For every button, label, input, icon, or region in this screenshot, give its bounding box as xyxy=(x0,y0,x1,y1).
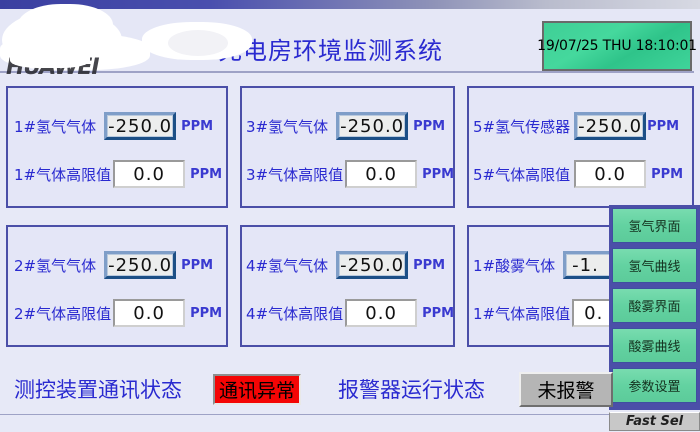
sensor-row: 2#氢气气体 -250.0 PPM xyxy=(14,251,213,279)
sensor-value-field[interactable]: -250.0 xyxy=(574,112,646,140)
sensor-value: -1. xyxy=(572,255,599,276)
panel-sensor-4: 4#氢气气体 -250.0 PPM 4#气体高限值 0.0 PPM xyxy=(240,225,455,347)
limit-label: 1#气体高限值 xyxy=(473,303,570,324)
sensor-row: 3#氢气气体 -250.0 PPM xyxy=(246,112,445,140)
button-acid-mist-curve[interactable]: 酸雾曲线 xyxy=(612,328,697,363)
sensor-value: -250.0 xyxy=(108,255,172,276)
bottom-divider xyxy=(0,414,609,432)
sensor-unit: PPM xyxy=(413,258,445,273)
limit-value: 0.0 xyxy=(133,164,165,185)
status-bar: 测控装置通讯状态 报警器运行状态 xyxy=(0,358,609,414)
limit-value: 0.0 xyxy=(594,164,626,185)
sensor-unit: PPM xyxy=(181,258,213,273)
limit-value-field[interactable]: 0.0 xyxy=(113,299,185,327)
button-acid-mist-screen[interactable]: 酸雾界面 xyxy=(612,288,697,323)
limit-row: 4#气体高限值 0.0 PPM xyxy=(246,299,454,327)
limit-value-field[interactable]: 0.0 xyxy=(113,160,185,188)
top-decoration-strip xyxy=(0,0,700,9)
button-parameter-settings[interactable]: 参数设置 xyxy=(612,368,697,403)
comm-status-label: 测控装置通讯状态 xyxy=(14,374,182,404)
sensor-value-field[interactable]: -250.0 xyxy=(336,251,408,279)
limit-row: 2#气体高限值 0.0 PPM xyxy=(14,299,222,327)
sensor-label: 2#氢气气体 xyxy=(14,255,96,276)
limit-label: 2#气体高限值 xyxy=(14,303,111,324)
button-hydrogen-screen[interactable]: 氢气界面 xyxy=(612,208,697,243)
panel-sensor-5: 5#氢气传感器 -250.0 PPM 5#气体高限值 0.0 PPM xyxy=(467,86,694,208)
limit-value: 0.0 xyxy=(365,164,397,185)
sensor-label: 1#氢气气体 xyxy=(14,116,96,137)
button-label: 酸雾界面 xyxy=(628,296,680,315)
limit-unit: PPM xyxy=(190,306,222,321)
sensor-value-field[interactable]: -250.0 xyxy=(104,112,176,140)
alarm-status-value: 未报警 xyxy=(537,376,594,403)
redaction-smudge-6 xyxy=(10,46,90,68)
limit-label: 5#气体高限值 xyxy=(473,164,570,185)
limit-row: 1#气体高限值 0.0 PPM xyxy=(14,160,222,188)
sensor-value: -250.0 xyxy=(108,116,172,137)
limit-row: 3#气体高限值 0.0 PPM xyxy=(246,160,454,188)
datetime-value: 19/07/25 THU 18:10:01 xyxy=(537,38,697,54)
sensor-label: 4#氢气气体 xyxy=(246,255,328,276)
limit-unit: PPM xyxy=(190,167,222,182)
sensor-row: 4#氢气气体 -250.0 PPM xyxy=(246,251,445,279)
button-label: 氢气曲线 xyxy=(628,256,680,275)
sensor-unit: PPM xyxy=(181,119,213,134)
button-label: 参数设置 xyxy=(628,376,680,395)
fast-select-footer[interactable]: Fast Sel xyxy=(609,412,700,431)
limit-value-field[interactable]: 0.0 xyxy=(345,160,417,188)
limit-row: 5#气体高限值 0.0 PPM xyxy=(473,160,683,188)
comm-status-value: 通讯异常 xyxy=(219,376,295,403)
sensor-value: -250.0 xyxy=(340,116,404,137)
alarm-status-label: 报警器运行状态 xyxy=(338,374,485,404)
limit-label: 4#气体高限值 xyxy=(246,303,343,324)
limit-unit: PPM xyxy=(422,167,454,182)
fast-select-panel: 氢气界面 氢气曲线 酸雾界面 酸雾曲线 参数设置 xyxy=(609,205,700,410)
button-label: 酸雾曲线 xyxy=(628,336,680,355)
sensor-value-field[interactable]: -250.0 xyxy=(104,251,176,279)
limit-value: 0.0 xyxy=(133,303,165,324)
sensor-value-field[interactable]: -250.0 xyxy=(336,112,408,140)
limit-value: 0. xyxy=(584,303,603,324)
limit-value-field[interactable]: 0.0 xyxy=(345,299,417,327)
sensor-unit: PPM xyxy=(647,119,679,134)
datetime-display: 19/07/25 THU 18:10:01 xyxy=(542,21,692,71)
sensor-label: 5#氢气传感器 xyxy=(473,116,570,137)
sensor-value: -250.0 xyxy=(578,116,642,137)
redaction-smudge-5 xyxy=(168,30,228,56)
button-hydrogen-curve[interactable]: 氢气曲线 xyxy=(612,248,697,283)
panel-sensor-2: 2#氢气气体 -250.0 PPM 2#气体高限值 0.0 PPM xyxy=(6,225,228,347)
sensor-label: 3#氢气气体 xyxy=(246,116,328,137)
sensor-row: 5#氢气传感器 -250.0 PPM xyxy=(473,112,679,140)
sensor-label: 1#酸雾气体 xyxy=(473,255,555,276)
panel-sensor-1: 1#氢气气体 -250.0 PPM 1#气体高限值 0.0 PPM xyxy=(6,86,228,208)
alarm-status-badge[interactable]: 未报警 xyxy=(519,372,613,407)
panel-sensor-3: 3#氢气气体 -250.0 PPM 3#气体高限值 0.0 PPM xyxy=(240,86,455,208)
right-edge-filler xyxy=(694,71,700,205)
hmi-screen: 充电房环境监测系统 19/07/25 THU 18:10:01 HUAWEI 1… xyxy=(0,0,700,431)
sensor-unit: PPM xyxy=(413,119,445,134)
sensor-value: -250.0 xyxy=(340,255,404,276)
limit-value: 0.0 xyxy=(365,303,397,324)
sensor-row: 1#氢气气体 -250.0 PPM xyxy=(14,112,213,140)
limit-label: 1#气体高限值 xyxy=(14,164,111,185)
limit-unit: PPM xyxy=(651,167,683,182)
comm-status-badge: 通讯异常 xyxy=(213,374,301,405)
limit-value-field[interactable]: 0.0 xyxy=(574,160,646,188)
page-title: 充电房环境监测系统 xyxy=(218,31,538,66)
limit-unit: PPM xyxy=(422,306,454,321)
button-label: 氢气界面 xyxy=(628,216,680,235)
fast-select-label: Fast Sel xyxy=(626,414,683,429)
limit-label: 3#气体高限值 xyxy=(246,164,343,185)
